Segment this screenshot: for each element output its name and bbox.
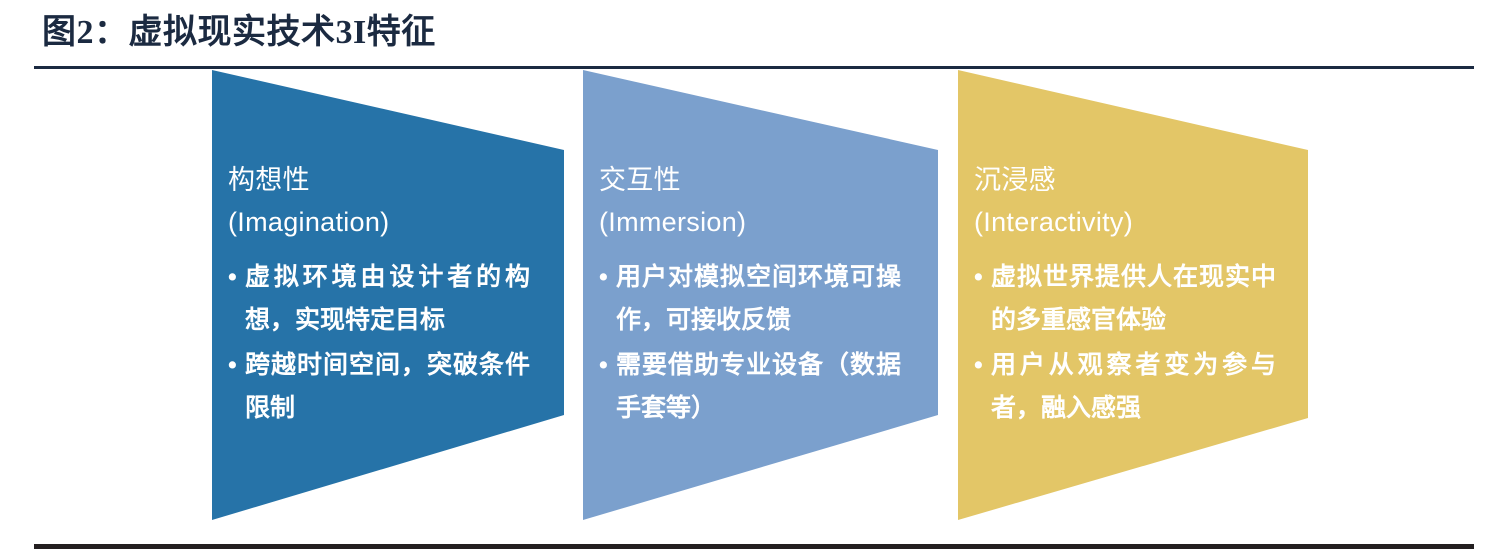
- panel-heading-cn-imagination: 构想性: [228, 162, 530, 198]
- panel-group: 构想性 (Imagination) 虚拟环境由设计者的构想，实现特定目标 跨越时…: [0, 70, 1508, 540]
- bullet-list-imagination: 虚拟环境由设计者的构想，实现特定目标 跨越时间空间，突破条件限制: [228, 256, 530, 430]
- title-divider-rule: [34, 66, 1474, 69]
- bottom-divider-rule: [34, 544, 1474, 549]
- panel-content-immersion: 交互性 (Immersion) 用户对模拟空间环境可操作，可接收反馈 需要借助专…: [599, 162, 901, 432]
- panel-heading-en-immersion: (Immersion): [599, 204, 901, 240]
- bullet-item: 用户从观察者变为参与者，融入感强: [974, 344, 1276, 430]
- figure-title: 图2：虚拟现实技术3I特征: [42, 10, 436, 56]
- panel-imagination[interactable]: 构想性 (Imagination) 虚拟环境由设计者的构想，实现特定目标 跨越时…: [212, 70, 564, 520]
- bullet-item: 虚拟环境由设计者的构想，实现特定目标: [228, 256, 530, 342]
- panel-heading-en-imagination: (Imagination): [228, 204, 530, 240]
- panel-heading-cn-interactivity: 沉浸感: [974, 162, 1276, 198]
- bullet-item: 虚拟世界提供人在现实中的多重感官体验: [974, 256, 1276, 342]
- panel-heading-en-interactivity: (Interactivity): [974, 204, 1276, 240]
- panel-heading-cn-immersion: 交互性: [599, 162, 901, 198]
- bullet-item: 用户对模拟空间环境可操作，可接收反馈: [599, 256, 901, 342]
- bullet-list-interactivity: 虚拟世界提供人在现实中的多重感官体验 用户从观察者变为参与者，融入感强: [974, 256, 1276, 430]
- bullet-list-immersion: 用户对模拟空间环境可操作，可接收反馈 需要借助专业设备（数据手套等）: [599, 256, 901, 430]
- panel-immersion[interactable]: 交互性 (Immersion) 用户对模拟空间环境可操作，可接收反馈 需要借助专…: [583, 70, 938, 520]
- bullet-item: 跨越时间空间，突破条件限制: [228, 344, 530, 430]
- panel-interactivity[interactable]: 沉浸感 (Interactivity) 虚拟世界提供人在现实中的多重感官体验 用…: [958, 70, 1308, 520]
- panel-content-interactivity: 沉浸感 (Interactivity) 虚拟世界提供人在现实中的多重感官体验 用…: [974, 162, 1276, 432]
- bullet-item: 需要借助专业设备（数据手套等）: [599, 344, 901, 430]
- panel-content-imagination: 构想性 (Imagination) 虚拟环境由设计者的构想，实现特定目标 跨越时…: [228, 162, 530, 432]
